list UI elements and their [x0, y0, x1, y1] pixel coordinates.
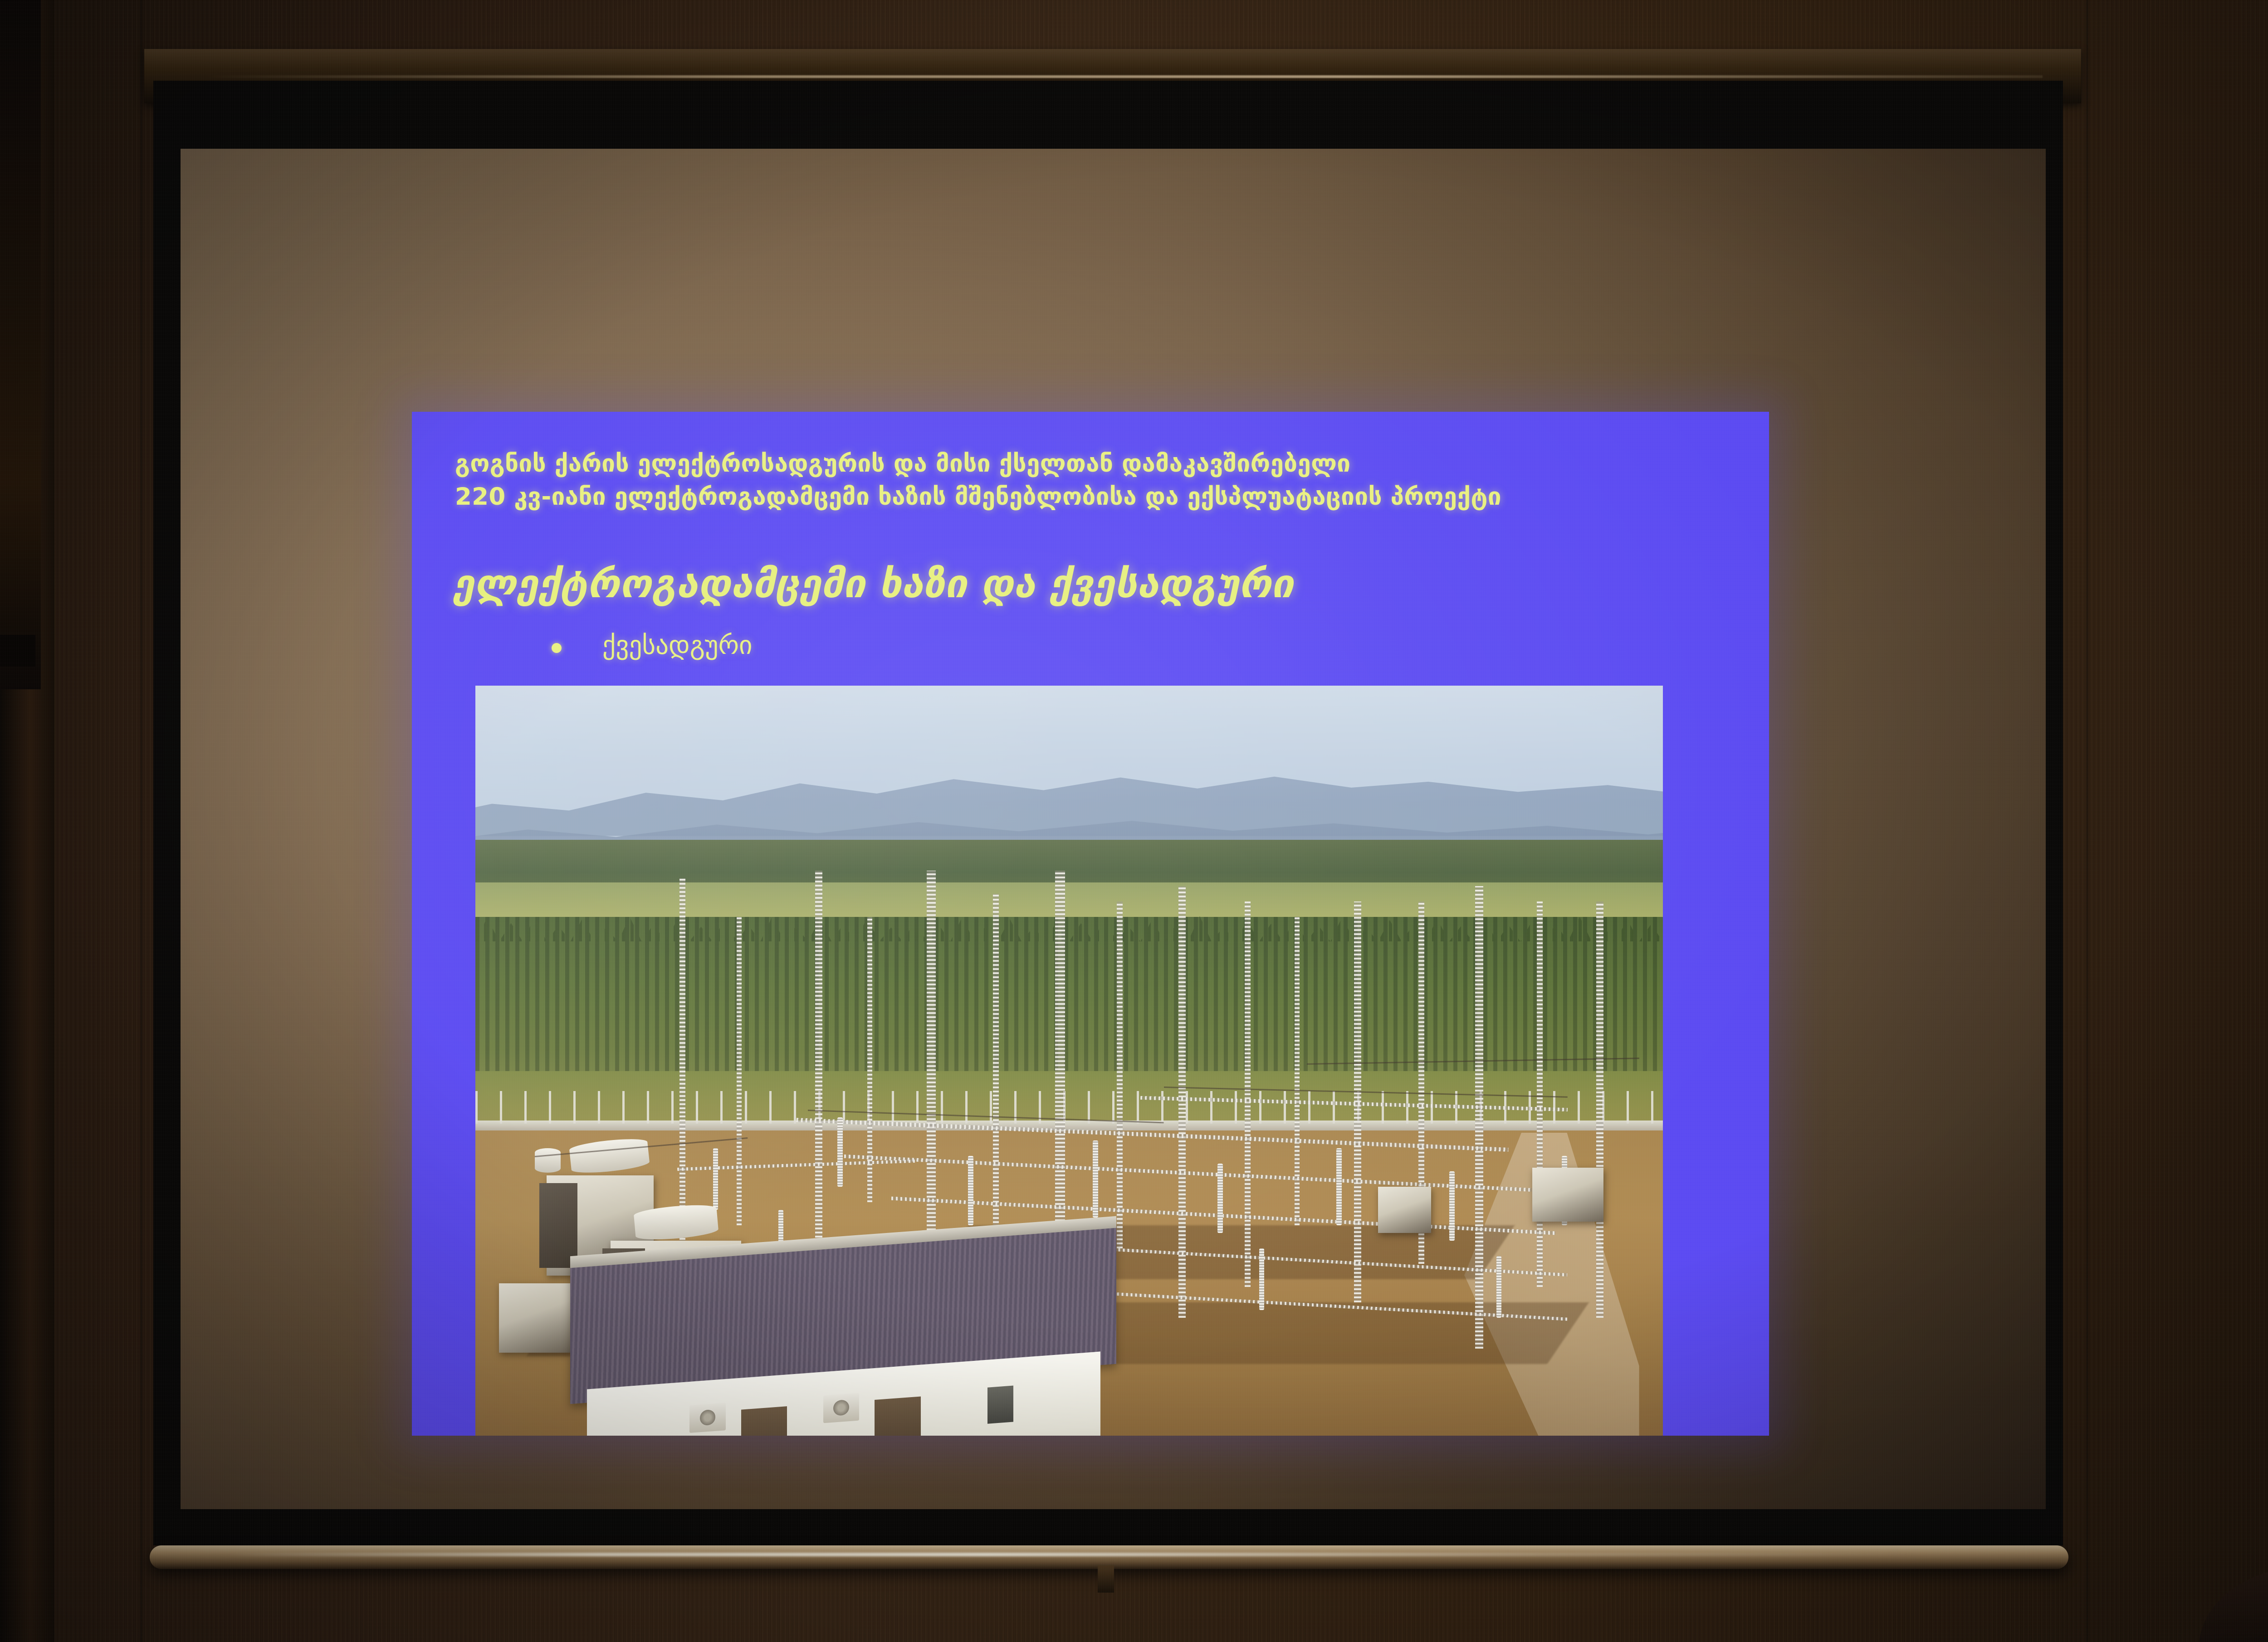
slide-subtitle: გოგნის ქარის ელექტროსადგურის და მისი ქსე…: [455, 447, 1711, 513]
photo-insulator-stack: [1336, 1148, 1342, 1225]
photo-insulator-stack: [837, 1117, 843, 1187]
photo-lattice-mast: [679, 878, 685, 1256]
photo-lattice-mast: [737, 917, 742, 1225]
photo-building-door: [741, 1406, 787, 1436]
slide-bullet-item: ქვესადგური: [548, 629, 1682, 662]
photo-insulator-stack: [713, 1148, 718, 1210]
photo-building-ac-unit: [823, 1393, 859, 1423]
slide-subtitle-line-2: 220 კვ-იანი ელექტროგადამცემი ხაზის მშენე…: [455, 480, 1711, 513]
photo-insulator-stack: [1217, 1164, 1223, 1233]
projection-screen-center-stem: [1098, 1565, 1114, 1593]
wall-dark-tab: [0, 635, 35, 667]
photo-lattice-mast: [993, 894, 999, 1264]
photo-lattice-mast: [1475, 886, 1483, 1349]
photo-building-door: [874, 1397, 920, 1436]
screenshot-root: გოგნის ქარის ელექტროსადგურის და მისი ქსე…: [0, 0, 2268, 1642]
photo-lattice-mast: [1245, 901, 1251, 1287]
wall-seam-left: [141, 0, 143, 1642]
wall-dark-strip: [0, 0, 41, 689]
slide-bullet-list: ქვესადგური: [548, 629, 1682, 662]
photo-lattice-mast: [1117, 901, 1123, 1248]
photo-building-window: [987, 1385, 1013, 1423]
photo-building-ac-unit: [689, 1402, 725, 1432]
photo-insulator-stack: [1449, 1171, 1455, 1241]
photo-lattice-mast: [1537, 901, 1543, 1287]
photo-switchgear-cabinet: [499, 1283, 570, 1353]
photo-insulator-stack: [1259, 1248, 1264, 1310]
photo-lattice-mast: [1596, 901, 1603, 1318]
photo-control-building: [570, 1241, 1116, 1436]
slide-subtitle-line-1: გოგნის ქარის ელექტროსადგურის და მისი ქსე…: [455, 447, 1711, 480]
projected-slide: გოგნის ქარის ელექტროსადგურის და მისი ქსე…: [412, 412, 1769, 1436]
photo-switchgear-cabinet: [1378, 1187, 1432, 1233]
photo-lattice-mast: [815, 871, 822, 1295]
photo-insulator-stack: [1496, 1256, 1501, 1318]
photo-transformer-bushing: [535, 1148, 561, 1173]
slide-photo-substation: [475, 686, 1663, 1436]
slide-heading: ელექტროგადამცემი ხაზი და ქვესადგური: [453, 563, 1723, 605]
photo-insulator-stack: [968, 1156, 973, 1225]
photo-switchgear-cabinet: [1532, 1168, 1603, 1222]
wall-seam-right: [2087, 0, 2089, 1642]
photo-insulator-stack: [1093, 1140, 1098, 1218]
